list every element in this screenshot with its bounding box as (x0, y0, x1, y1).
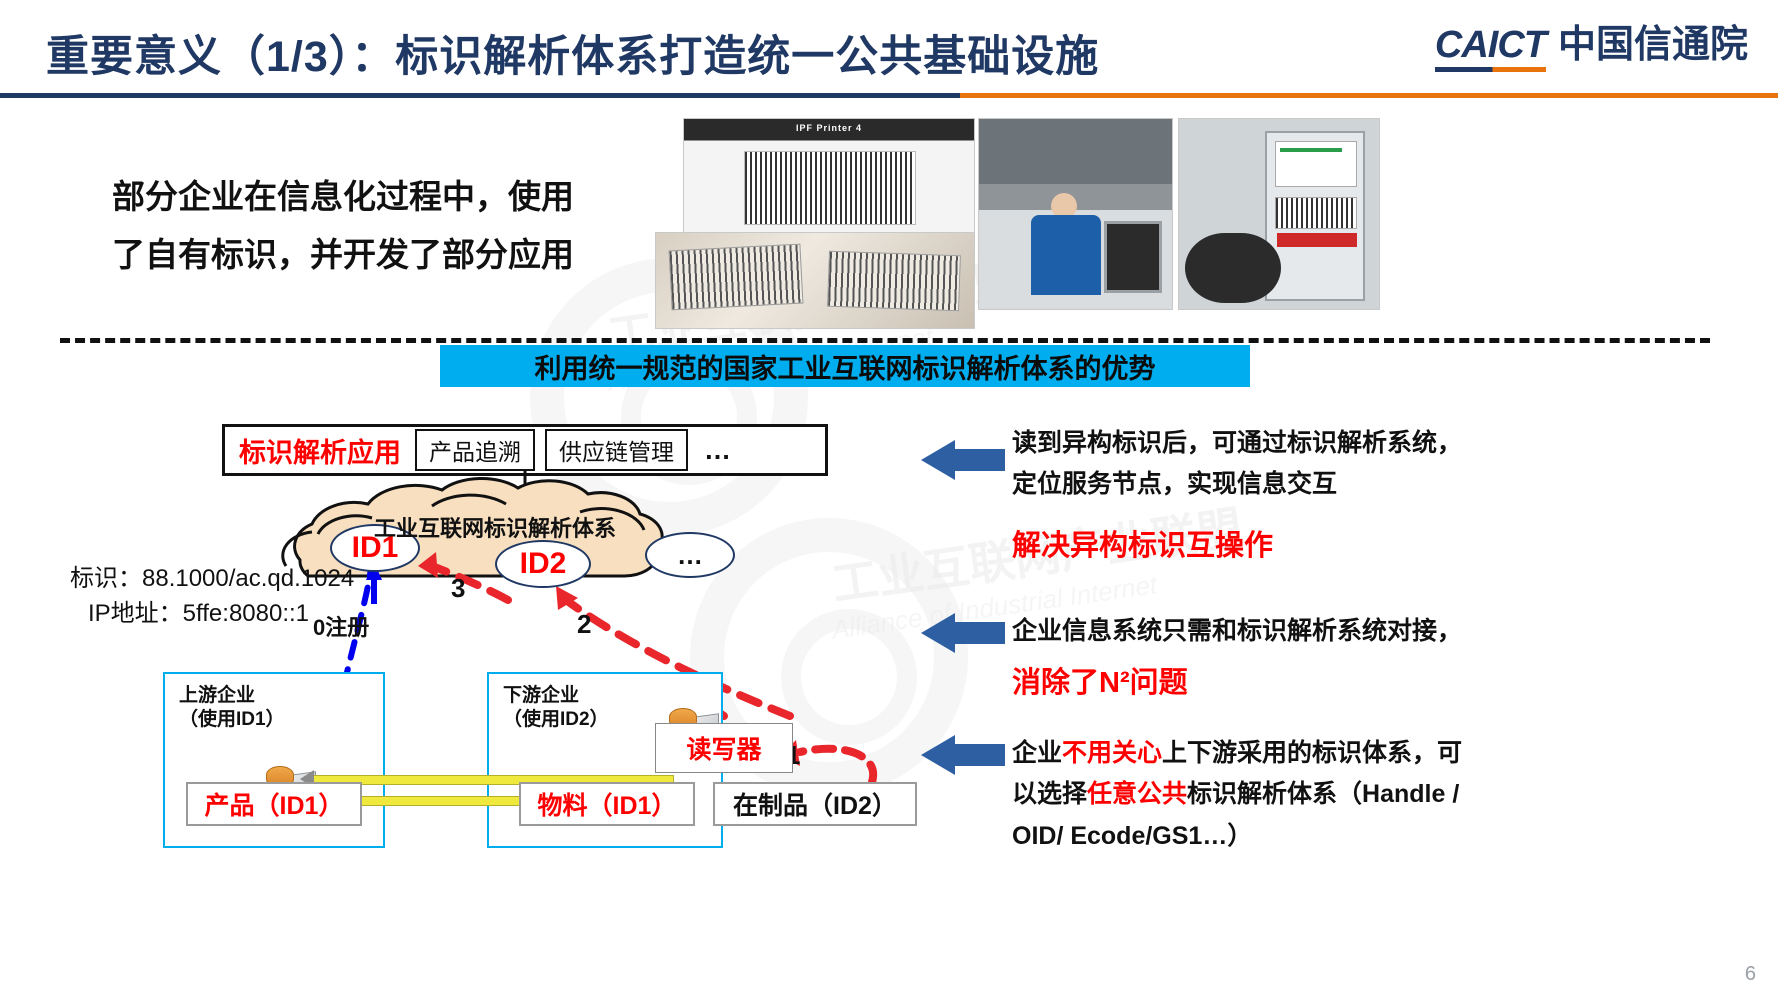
arrow-head (921, 440, 955, 480)
callout-note-4-line-1: 企业不用关心上下游采用的标识体系，可 (1012, 733, 1672, 774)
item-box-work-in-process-label: 在制品（ID2） (733, 786, 897, 822)
callout-note-4-seg-d: 标识解析体系（Handle / (1187, 780, 1459, 808)
callout-note-4-seg-c: 以选择 (1012, 780, 1087, 808)
callout-arrow-3-icon (921, 735, 1005, 775)
identifier-handle-line: 标识：88.1000/ac.qd.1024 (70, 562, 354, 597)
callout-note-1: 读到异构标识后，可通过标识解析系统， 定位服务节点，实现信息交互 (1012, 423, 1632, 506)
logo-latin-text: CAICT (1435, 26, 1546, 72)
application-cell-supplychain[interactable]: 供应链管理 (545, 429, 688, 471)
item-box-product[interactable]: 产品（ID1） (186, 782, 362, 826)
page-number: 6 (1745, 963, 1756, 986)
machine-shape (979, 119, 1172, 184)
identifier-info-block: 标识：88.1000/ac.qd.1024 IP地址：5ffe:8080::1 (70, 562, 354, 632)
arrow-head (921, 613, 955, 653)
printer-label-strip (744, 151, 916, 225)
reader-label: 读写器 (686, 730, 761, 766)
callout-note-4-seg-red-2: 任意公共 (1087, 780, 1187, 808)
callout-note-1-line-2: 定位服务节点，实现信息交互 (1012, 464, 1632, 505)
page-title: 重要意义（1/3）：标识解析体系打造统一公共基础设施 (46, 22, 1099, 84)
advantage-banner: 利用统一规范的国家工业互联网标识解析体系的优势 (440, 345, 1250, 387)
cabinet-barcode-shape (1275, 197, 1357, 229)
advantage-banner-label: 利用统一规范的国家工业互联网标识解析体系的优势 (535, 347, 1156, 386)
control-panel-shape (1104, 221, 1162, 293)
callout-note-4: 企业不用关心上下游采用的标识体系，可 以选择任意公共标识解析体系（Handle … (1012, 733, 1672, 857)
header-divider-rule (0, 93, 1778, 98)
callout-arrow-1-icon (921, 440, 1005, 480)
cabinet-photo (1178, 118, 1380, 310)
caict-logo: CAICT 中国信通院 (1435, 26, 1748, 72)
node-more[interactable]: … (645, 532, 735, 578)
logo-chinese-label: 中国信通院 (1558, 26, 1748, 72)
printer-photo: IPF Printer 4 (683, 118, 975, 240)
application-layer-bar: 标识解析应用 产品追溯 供应链管理 … (222, 424, 828, 476)
callout-note-4-line-2: 以选择任意公共标识解析体系（Handle / (1012, 774, 1672, 815)
upstream-caption: 上游企业 （使用ID1） (165, 674, 383, 732)
application-ellipsis: … (698, 435, 731, 466)
item-box-product-label: 产品（ID1） (205, 786, 344, 822)
callout-note-4-line-3: OID/ Ecode/GS1…） (1012, 816, 1672, 857)
arrow-shaft (953, 622, 1005, 644)
step-label-3: 3 (451, 573, 465, 604)
callout-note-2: 解决异构标识互操作 (1012, 523, 1632, 571)
callout-note-3-line-2: 消除了N²问题 (1012, 660, 1652, 708)
callout-note-3-line-1: 企业信息系统只需和标识解析系统对接， (1012, 611, 1652, 652)
worker-body-shape (1031, 215, 1101, 295)
node-id2-label: ID2 (520, 547, 567, 581)
slide-root: 重要意义（1/3）：标识解析体系打造统一公共基础设施 CAICT 中国信通院 工… (0, 0, 1778, 1000)
identifier-ip-line: IP地址：5ffe:8080::1 (70, 597, 354, 632)
arrow-shaft (953, 449, 1005, 471)
arrow-shaft (953, 744, 1005, 766)
item-box-material-label: 物料（ID1） (538, 786, 677, 822)
logo-latin-label: CAICT (1435, 24, 1546, 66)
intro-line-1: 部分企业在信息化过程中，使用 (112, 168, 672, 226)
step-label-2: 2 (577, 609, 591, 640)
step-label-0-register: 0注册 (313, 610, 369, 642)
node-id2[interactable]: ID2 (495, 540, 591, 588)
cabinet-foreground-shape (1185, 233, 1281, 303)
dashed-divider (60, 338, 1710, 343)
arrow-head (921, 735, 955, 775)
item-box-work-in-process[interactable]: 在制品（ID2） (713, 782, 917, 826)
intro-text-block: 部分企业在信息化过程中，使用 了自有标识，并开发了部分应用 (112, 168, 672, 284)
intro-line-2: 了自有标识，并开发了部分应用 (112, 226, 672, 284)
application-layer-title: 标识解析应用 (225, 431, 415, 470)
cabinet-screen-shape (1275, 141, 1357, 187)
labels-photo-content (656, 233, 974, 329)
node-more-label: … (677, 540, 703, 571)
callout-note-1-line-1: 读到异构标识后，可通过标识解析系统， (1012, 423, 1632, 464)
labels-photo (655, 232, 975, 329)
printer-photo-content: IPF Printer 4 (684, 119, 974, 239)
callout-note-4-seg-red-1: 不用关心 (1062, 739, 1162, 767)
application-cell-traceability[interactable]: 产品追溯 (415, 429, 535, 471)
cabinet-red-label-shape (1277, 233, 1357, 247)
upstream-caption-line-2: （使用ID1） (179, 708, 383, 732)
worker-photo (978, 118, 1173, 310)
logo-underline (1435, 67, 1546, 72)
reader-box[interactable]: 读写器 (655, 723, 793, 773)
upstream-caption-line-1: 上游企业 (179, 684, 383, 708)
cloud-label: 工业互联网标识解析体系 (374, 511, 616, 543)
item-box-material[interactable]: 物料（ID1） (519, 782, 695, 826)
worker-photo-content (979, 119, 1172, 309)
callout-note-4-seg-a: 企业 (1012, 739, 1062, 767)
cabinet-photo-content (1179, 119, 1379, 309)
callout-note-3: 企业信息系统只需和标识解析系统对接， 消除了N²问题 (1012, 611, 1652, 708)
callout-note-4-seg-b: 上下游采用的标识体系，可 (1162, 739, 1462, 767)
printer-photo-caption: IPF Printer 4 (684, 119, 974, 137)
callout-arrow-2-icon (921, 613, 1005, 653)
